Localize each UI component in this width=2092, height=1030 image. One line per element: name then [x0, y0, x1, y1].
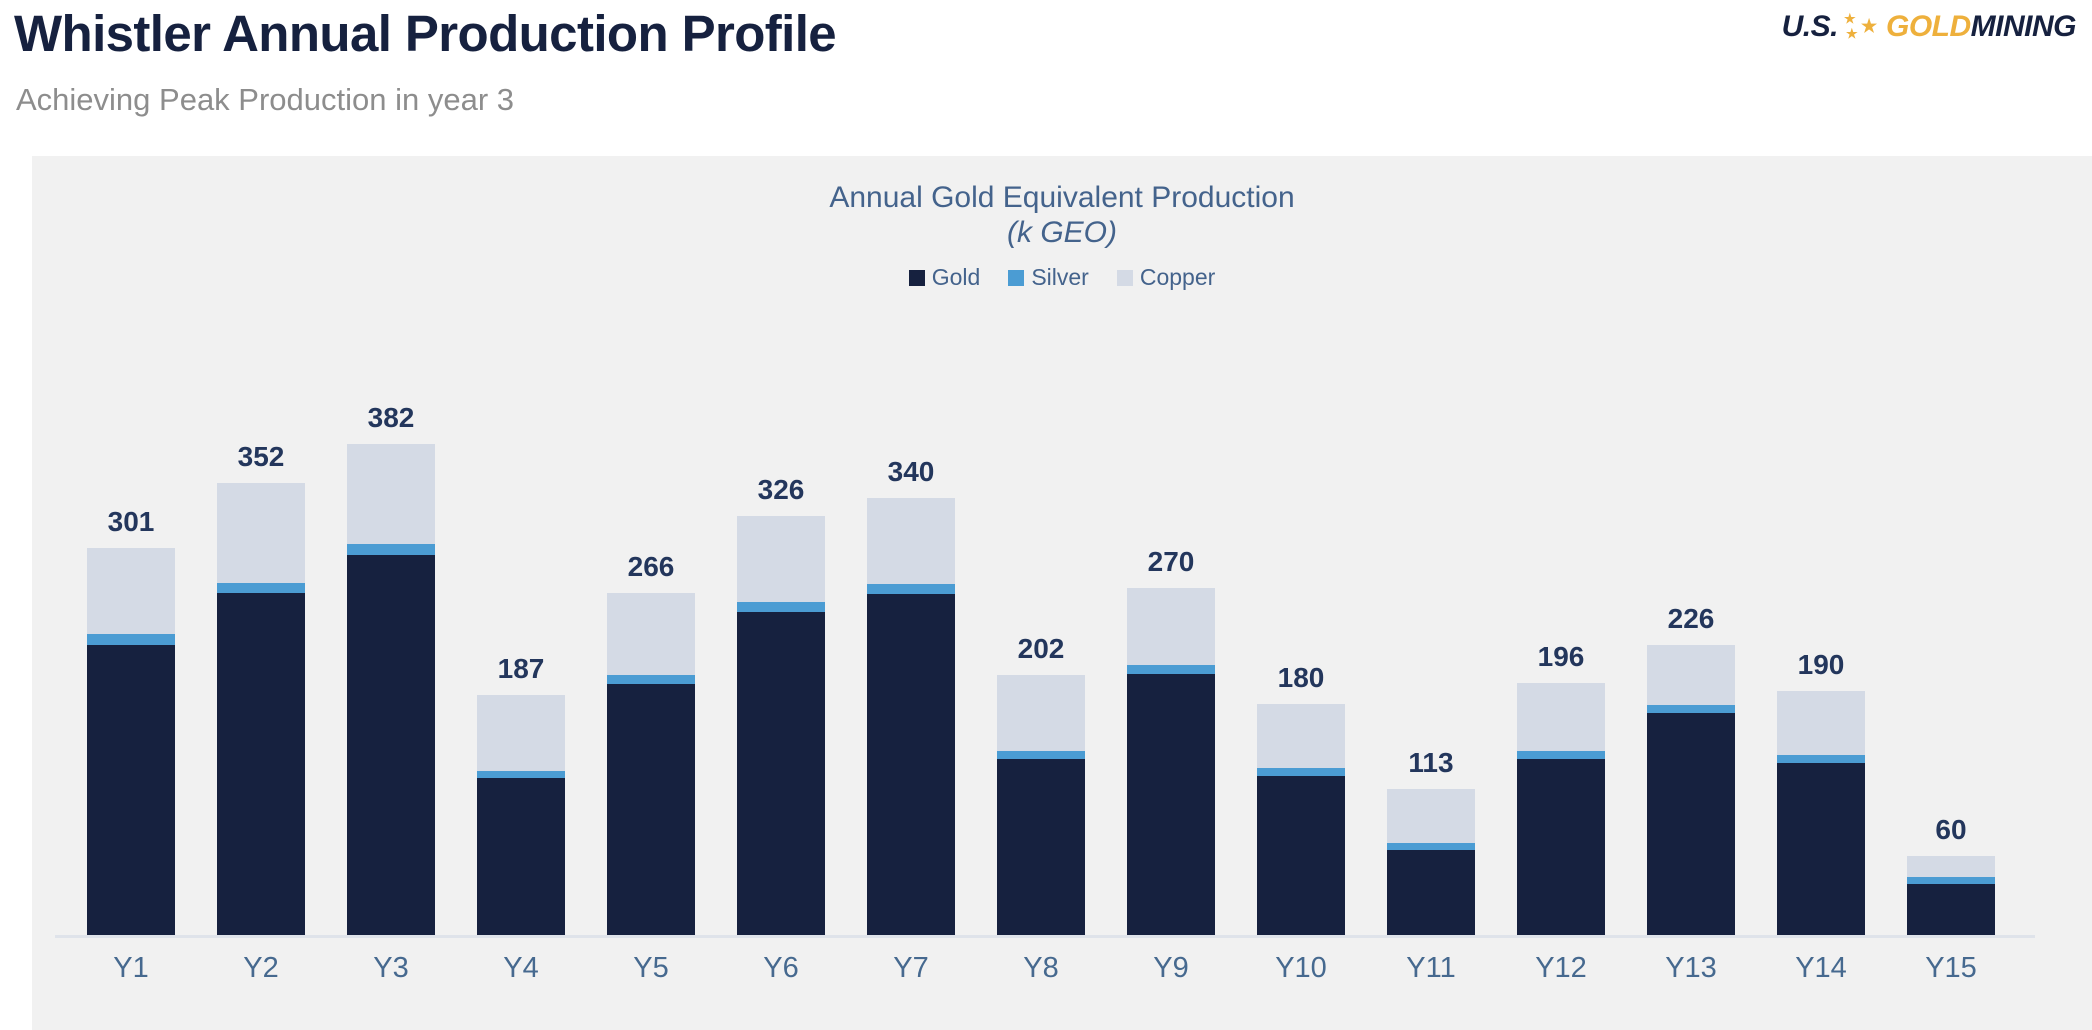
bar-value-label: 113 [1363, 747, 1499, 779]
bar-segment-silver [1777, 755, 1865, 763]
bar-group[interactable]: 202 [997, 675, 1085, 935]
bar-segment-copper [1127, 588, 1215, 665]
bar-group[interactable]: 270 [1127, 588, 1215, 935]
bar-group[interactable]: 352 [217, 483, 305, 935]
bar-segment-gold [1517, 759, 1605, 935]
x-axis-label-y11: Y11 [1363, 952, 1499, 985]
logo-gold-text: GOLD [1886, 10, 1971, 44]
logo-mining-text: MINING [1971, 10, 2076, 44]
x-axis-label-y2: Y2 [193, 952, 329, 985]
x-axis-label-y12: Y12 [1493, 952, 1629, 985]
bar-segment-gold [217, 593, 305, 935]
bar-segment-silver [477, 771, 565, 779]
stars-icon: ★ ★ ★ [1842, 12, 1884, 42]
bar-segment-copper [997, 675, 1085, 751]
bar-group[interactable]: 180 [1257, 704, 1345, 935]
bar-segment-gold [1907, 884, 1995, 935]
stacked-bar[interactable] [1777, 691, 1865, 935]
bar-value-label: 202 [973, 633, 1109, 665]
bar-segment-copper [1387, 789, 1475, 843]
bar-segment-copper [477, 695, 565, 771]
bar-group[interactable]: 326 [737, 516, 825, 935]
bar-segment-silver [87, 634, 175, 644]
stacked-bar[interactable] [347, 444, 435, 935]
bar-segment-copper [1517, 683, 1605, 751]
x-axis-label-y5: Y5 [583, 952, 719, 985]
stacked-bar[interactable] [87, 548, 175, 935]
x-axis-line [55, 935, 2035, 938]
bar-segment-silver [1127, 665, 1215, 674]
x-axis-label-y9: Y9 [1103, 952, 1239, 985]
x-axis-label-y6: Y6 [713, 952, 849, 985]
bar-value-label: 187 [453, 653, 589, 685]
x-axis-label-y13: Y13 [1623, 952, 1759, 985]
bar-group[interactable]: 60 [1907, 856, 1995, 935]
bar-segment-gold [1127, 674, 1215, 935]
bar-value-label: 340 [843, 456, 979, 488]
bar-segment-gold [347, 555, 435, 935]
bar-value-label: 352 [193, 441, 329, 473]
company-logo: U.S. ★ ★ ★ GOLD MINING [1782, 10, 2076, 44]
x-axis-label-y3: Y3 [323, 952, 459, 985]
bar-value-label: 270 [1103, 546, 1239, 578]
bar-segment-copper [1647, 645, 1735, 705]
bar-group[interactable]: 187 [477, 695, 565, 935]
stacked-bar[interactable] [867, 498, 955, 935]
bar-segment-gold [1257, 776, 1345, 935]
bar-value-label: 196 [1493, 641, 1629, 673]
bar-segment-copper [737, 516, 825, 602]
page-title: Whistler Annual Production Profile [14, 4, 836, 63]
bar-group[interactable]: 190 [1777, 691, 1865, 935]
star-icon-small-top: ★ [1844, 12, 1855, 25]
bar-group[interactable]: 196 [1517, 683, 1605, 935]
x-axis-label-y10: Y10 [1233, 952, 1369, 985]
bar-segment-gold [607, 684, 695, 935]
bar-segment-gold [477, 778, 565, 935]
bar-group[interactable]: 226 [1647, 645, 1735, 935]
bar-value-label: 190 [1753, 649, 1889, 681]
stacked-bar[interactable] [1907, 856, 1995, 935]
bar-segment-silver [217, 583, 305, 593]
bar-segment-copper [867, 498, 955, 584]
stacked-bar[interactable] [607, 593, 695, 935]
bar-value-label: 60 [1883, 814, 2019, 846]
bar-group[interactable]: 113 [1387, 789, 1475, 935]
bar-segment-silver [867, 584, 955, 594]
star-icon-large: ★ [1861, 17, 1877, 35]
bar-segment-silver [347, 544, 435, 554]
bar-segment-silver [1647, 705, 1735, 713]
x-axis-label-y15: Y15 [1883, 952, 2019, 985]
bar-segment-copper [607, 593, 695, 675]
bar-group[interactable]: 266 [607, 593, 695, 935]
star-icon-small-bottom: ★ [1846, 27, 1857, 40]
stacked-bar[interactable] [997, 675, 1085, 935]
bar-segment-silver [607, 675, 695, 684]
bar-segment-copper [217, 483, 305, 583]
stacked-bar[interactable] [1127, 588, 1215, 935]
stacked-bar[interactable] [477, 695, 565, 935]
chart-panel: Annual Gold Equivalent Production (k GEO… [32, 156, 2092, 1030]
stacked-bar[interactable] [1257, 704, 1345, 935]
bar-segment-silver [1517, 751, 1605, 759]
bar-group[interactable]: 340 [867, 498, 955, 935]
bar-group[interactable]: 301 [87, 548, 175, 935]
x-axis-label-y1: Y1 [63, 952, 199, 985]
bar-segment-copper [347, 444, 435, 544]
bar-segment-gold [1647, 713, 1735, 935]
plot-area: 301Y1352Y2382Y3187Y4266Y5326Y6340Y7202Y8… [32, 156, 2092, 1030]
bar-segment-silver [1257, 768, 1345, 776]
bar-segment-silver [737, 602, 825, 612]
bar-segment-silver [1907, 877, 1995, 884]
bar-segment-gold [997, 759, 1085, 935]
bar-value-label: 382 [323, 402, 459, 434]
bar-segment-gold [737, 612, 825, 935]
bar-segment-gold [867, 594, 955, 935]
bar-segment-copper [1907, 856, 1995, 877]
stacked-bar[interactable] [217, 483, 305, 935]
logo-us-text: U.S. [1782, 10, 1838, 44]
bar-segment-copper [1777, 691, 1865, 755]
bar-segment-gold [1387, 850, 1475, 935]
bar-segment-copper [87, 548, 175, 634]
stacked-bar[interactable] [1517, 683, 1605, 935]
bar-value-label: 226 [1623, 603, 1759, 635]
bar-segment-silver [997, 751, 1085, 759]
bar-segment-gold [1777, 763, 1865, 935]
bar-segment-gold [87, 645, 175, 935]
bar-value-label: 301 [63, 506, 199, 538]
bar-group[interactable]: 382 [347, 444, 435, 935]
x-axis-label-y4: Y4 [453, 952, 589, 985]
x-axis-label-y14: Y14 [1753, 952, 1889, 985]
chart-page: Whistler Annual Production Profile Achie… [0, 0, 2092, 1030]
stacked-bar[interactable] [1387, 789, 1475, 935]
bar-value-label: 326 [713, 474, 849, 506]
bar-segment-silver [1387, 843, 1475, 850]
stacked-bar[interactable] [737, 516, 825, 935]
bar-segment-copper [1257, 704, 1345, 768]
bar-value-label: 180 [1233, 662, 1369, 694]
x-axis-label-y8: Y8 [973, 952, 1109, 985]
page-subtitle: Achieving Peak Production in year 3 [16, 82, 514, 118]
bar-value-label: 266 [583, 551, 719, 583]
stacked-bar[interactable] [1647, 645, 1735, 935]
x-axis-label-y7: Y7 [843, 952, 979, 985]
